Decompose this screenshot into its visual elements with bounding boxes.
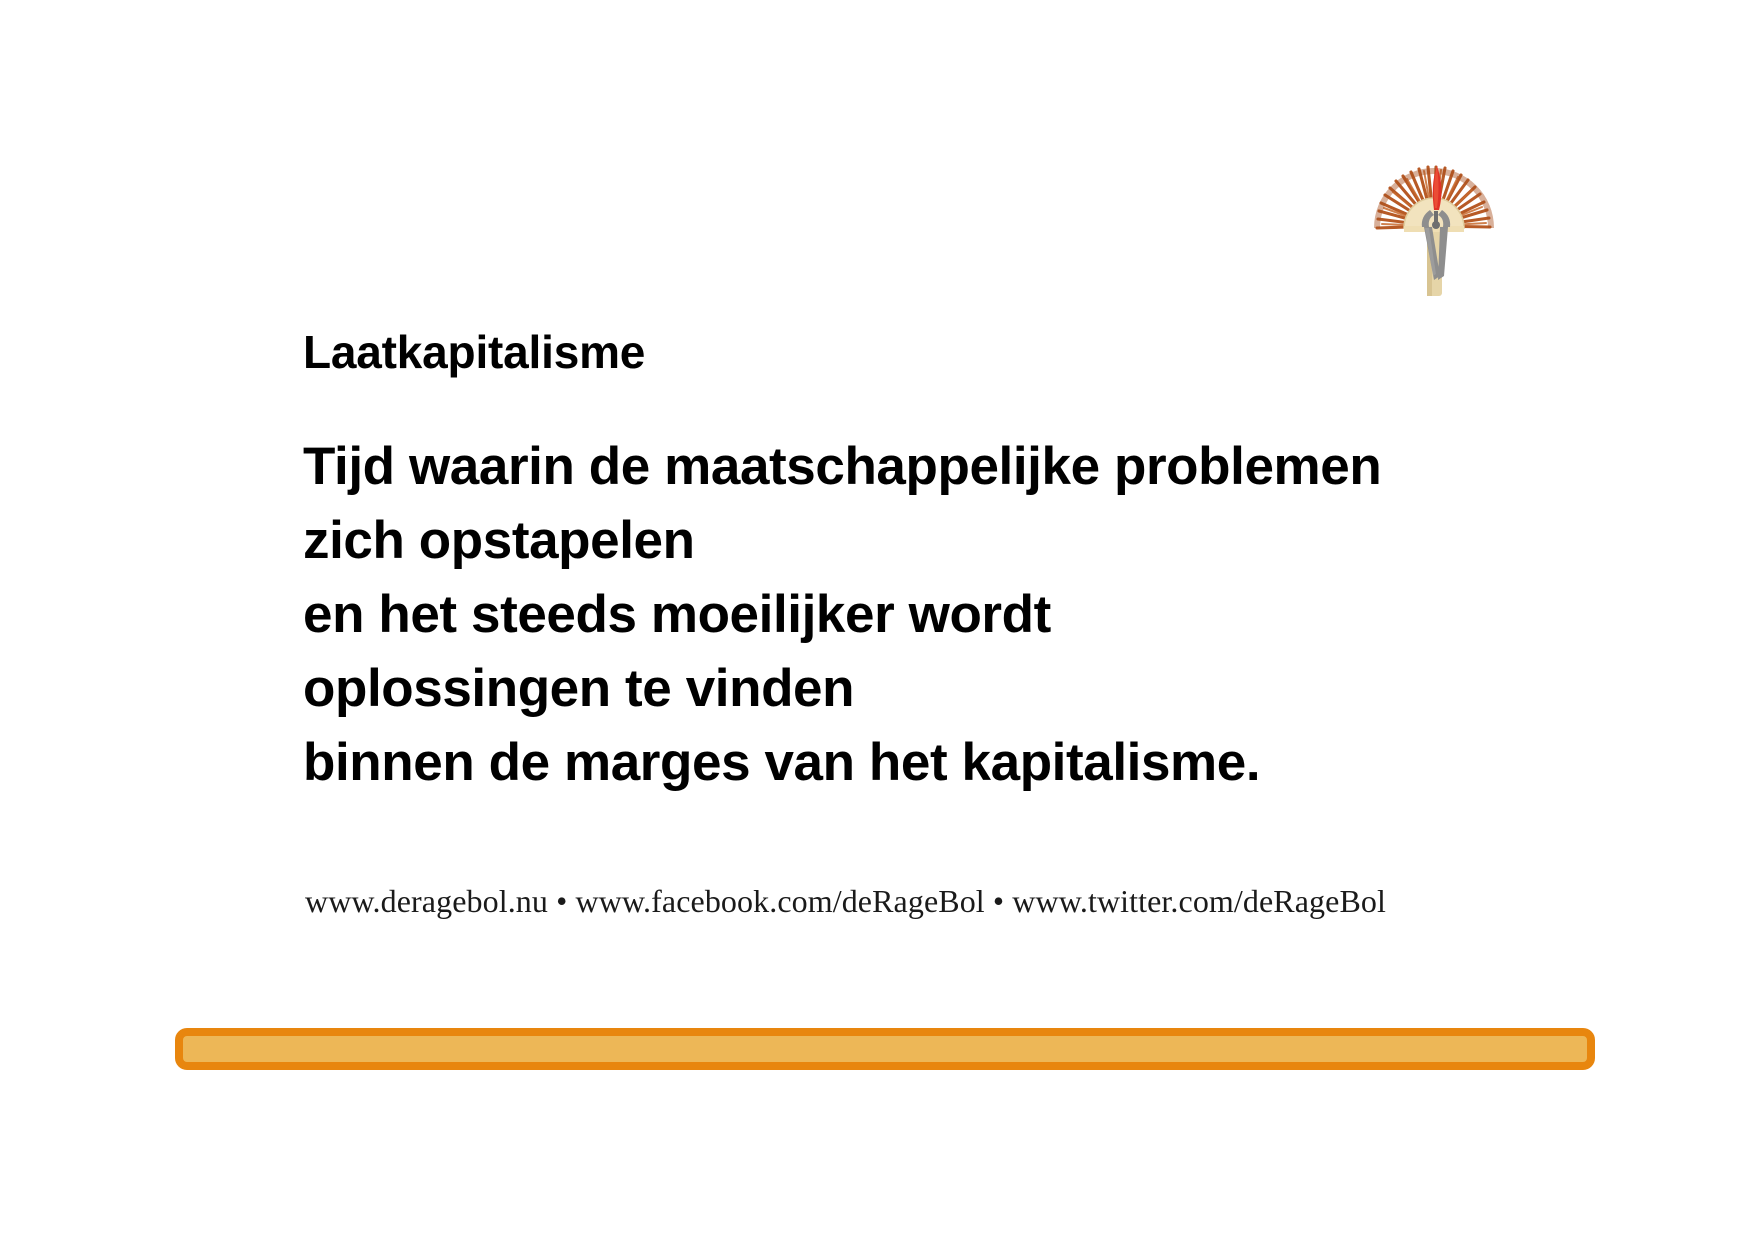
body-line: Tijd waarin de maatschappelijke probleme… bbox=[303, 430, 1503, 504]
body-line: en het steeds moeilijker wordt bbox=[303, 578, 1503, 652]
body-text: Tijd waarin de maatschappelijke probleme… bbox=[303, 430, 1503, 800]
bottom-accent-bar bbox=[175, 1028, 1595, 1070]
page-title: Laatkapitalisme bbox=[303, 327, 645, 378]
body-line: binnen de marges van het kapitalisme. bbox=[303, 726, 1503, 800]
footer-links: www.deragebol.nu • www.facebook.com/deRa… bbox=[305, 883, 1386, 920]
body-line: zich opstapelen bbox=[303, 504, 1503, 578]
ragebol-logo bbox=[1368, 148, 1504, 298]
body-line: oplossingen te vinden bbox=[303, 652, 1503, 726]
slide-canvas: Laatkapitalisme Tijd waarin de maatschap… bbox=[0, 0, 1748, 1240]
